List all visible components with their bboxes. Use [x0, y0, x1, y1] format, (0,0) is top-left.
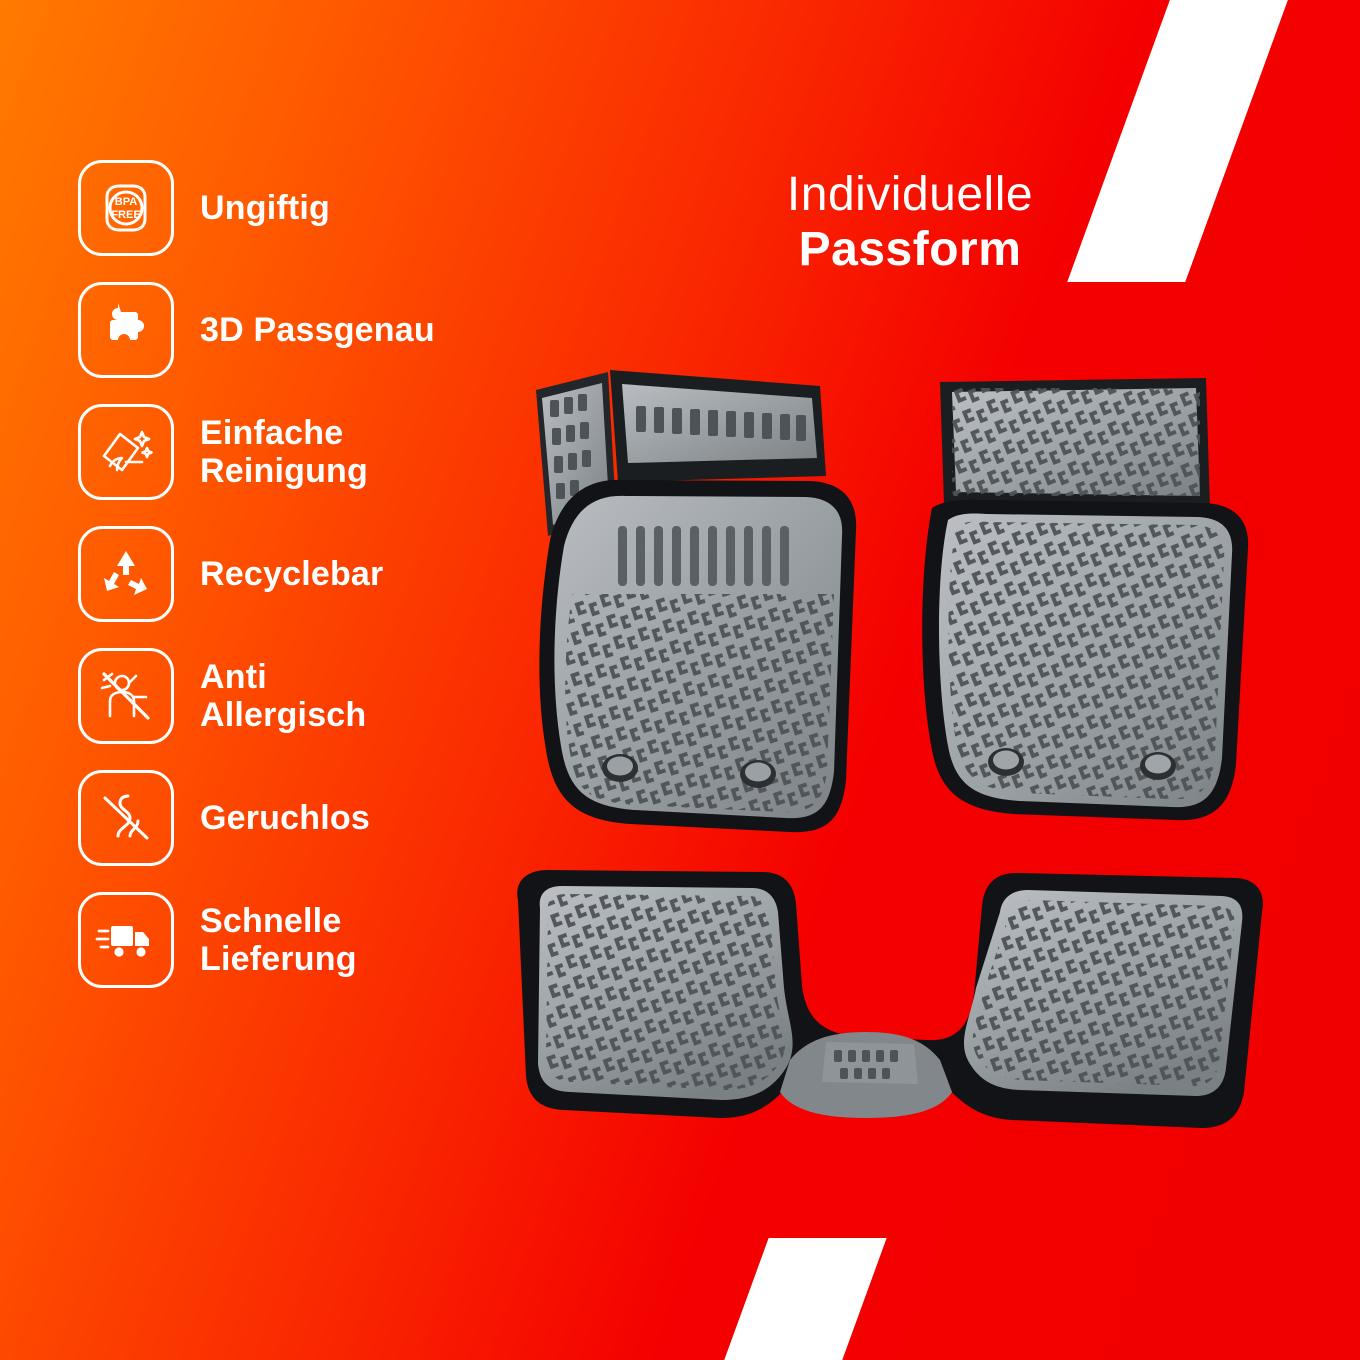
feature-item-einfache-reinigung: Einfache Reinigung: [78, 404, 548, 500]
front-left-mat: [490, 350, 890, 860]
bpa-badge-line-1: BPA: [115, 196, 137, 208]
feature-item-3d-passgenau: 3D Passgenau: [78, 282, 548, 378]
feature-label-einfache-reinigung: Einfache Reinigung: [200, 414, 368, 490]
easy-cleaning-icon: [78, 404, 174, 500]
recycle-icon: [78, 526, 174, 622]
feature-item-recyclebar: Recyclebar: [78, 526, 548, 622]
feature-item-geruchlos: Geruchlos: [78, 770, 548, 866]
headline-line-2: Passform: [700, 223, 1120, 278]
bpa-badge-line-2: FREE: [111, 209, 140, 221]
fast-delivery-truck-icon: [78, 892, 174, 988]
feature-item-schnelle-lieferung: Schnelle Lieferung: [78, 892, 548, 988]
feature-label-ungiftig: Ungiftig: [200, 189, 330, 227]
feature-label-3d-passgenau: 3D Passgenau: [200, 311, 435, 349]
rear-mat: [500, 860, 1280, 1160]
anti-allergic-icon: [78, 648, 174, 744]
headline: Individuelle Passform: [700, 168, 1120, 277]
headline-line-1: Individuelle: [700, 168, 1120, 223]
poster: Individuelle Passform BPA FREE Ungiftig: [0, 0, 1360, 1360]
product-image-group: [490, 350, 1310, 1180]
feature-item-ungiftig: BPA FREE Ungiftig: [78, 160, 548, 256]
feature-label-schnelle-lieferung: Schnelle Lieferung: [200, 902, 357, 978]
bpa-free-icon: BPA FREE: [78, 160, 174, 256]
puzzle-piece-icon: [78, 282, 174, 378]
odourless-icon: [78, 770, 174, 866]
feature-label-recyclebar: Recyclebar: [200, 555, 383, 593]
decorative-stripe-bottom: [721, 1238, 886, 1360]
feature-label-anti-allergisch: Anti Allergisch: [200, 658, 366, 734]
feature-item-anti-allergisch: Anti Allergisch: [78, 648, 548, 744]
front-right-mat: [910, 358, 1280, 858]
feature-label-geruchlos: Geruchlos: [200, 799, 370, 837]
feature-list: BPA FREE Ungiftig 3D Passgenau: [78, 160, 548, 988]
